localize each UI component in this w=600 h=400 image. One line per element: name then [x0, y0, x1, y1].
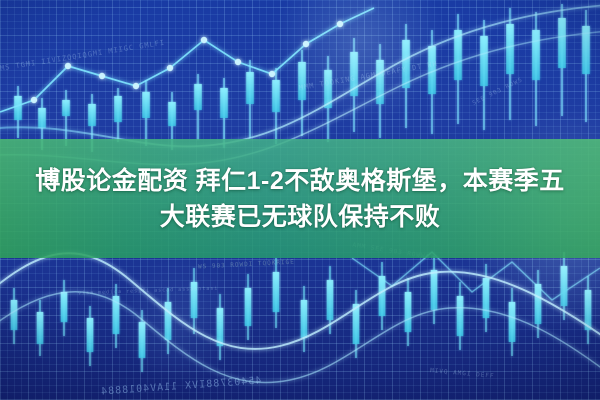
headline-overlay-band: 博股论金配资 拜仁1-2不敌奥格斯堡，本赛季五 大联赛已无球队保持不败 WS 9… — [0, 139, 600, 258]
headline-line-1: 博股论金配资 拜仁1-2不敌奥格斯堡，本赛季五 — [35, 165, 565, 197]
thumbnail-image: CMS TGMI IIVIZQQIQGMI MIIGC GMLFI MMM TO… — [0, 0, 600, 400]
headline-line-2: 大联赛已无球队保持不败 — [160, 201, 441, 233]
